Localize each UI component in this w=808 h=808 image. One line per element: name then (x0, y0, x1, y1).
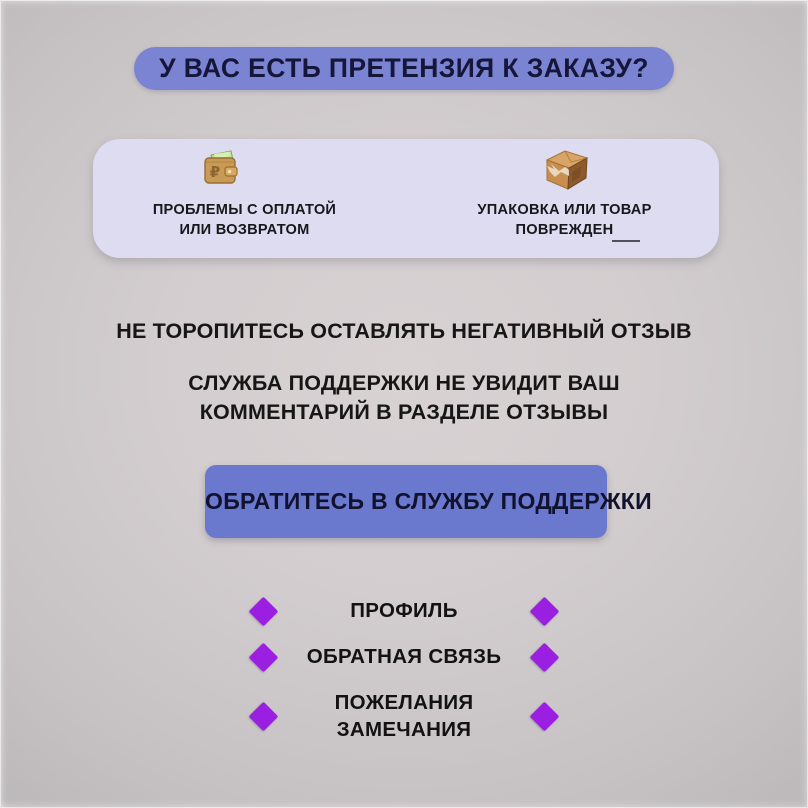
list-item[interactable]: ОБРАТНАЯ СВЯЗЬ (0, 644, 808, 670)
poster-canvas: У ВАС ЕСТЬ ПРЕТЕНЗИЯ К ЗАКАЗУ? ₽ ПРОБЛЕМ… (0, 0, 808, 808)
step-label-profile: ПРОФИЛЬ (304, 598, 504, 624)
step-label-line-1: ПОЖЕЛАНИЯ (335, 691, 474, 714)
label-line-1: УПАКОВКА ИЛИ ТОВАР (477, 202, 651, 218)
contact-support-button[interactable]: ОБРАТИТЕСЬ В СЛУЖБУ ПОДДЕРЖКИ (205, 465, 607, 538)
label-line-2: ИЛИ ВОЗВРАТОМ (179, 222, 309, 238)
diamond-bullet-icon (249, 702, 279, 732)
damaged-package-icon (541, 145, 593, 193)
list-item[interactable]: ПОЖЕЛАНИЯ ЗАМЕЧАНИЯ (0, 690, 808, 742)
diamond-bullet-icon (249, 642, 279, 672)
diamond-bullet-icon (530, 702, 560, 732)
label-line-1: ПРОБЛЕМЫ С ОПЛАТОЙ (153, 202, 336, 218)
svg-text:₽: ₽ (209, 163, 219, 181)
diamond-bullet-icon (249, 596, 279, 626)
claim-reason-payment[interactable]: ₽ ПРОБЛЕМЫ С ОПЛАТОЙ ИЛИ ВОЗВРАТОМ (93, 139, 406, 258)
diamond-bullet-icon (530, 642, 560, 672)
explanation-line-2: КОММЕНТАРИЙ В РАЗДЕЛЕ ОТЗЫВЫ (200, 400, 609, 424)
explanation-message: СЛУЖБА ПОДДЕРЖКИ НЕ УВИДИТ ВАШ КОММЕНТАР… (0, 369, 808, 426)
page-title-pill: У ВАС ЕСТЬ ПРЕТЕНЗИЯ К ЗАКАЗУ? (134, 47, 674, 90)
claim-reason-payment-label: ПРОБЛЕМЫ С ОПЛАТОЙ ИЛИ ВОЗВРАТОМ (153, 201, 336, 240)
wallet-ruble-icon: ₽ (198, 145, 244, 193)
claim-reason-package-label: УПАКОВКА ИЛИ ТОВАР ПОВРЕЖДЕН (477, 201, 651, 240)
claim-reason-package[interactable]: УПАКОВКА ИЛИ ТОВАР ПОВРЕЖДЕН (406, 139, 719, 258)
explanation-line-1: СЛУЖБА ПОДДЕРЖКИ НЕ УВИДИТ ВАШ (188, 371, 620, 395)
diamond-bullet-icon (530, 596, 560, 626)
label-line-2: ПОВРЕЖДЕН (516, 222, 614, 238)
text-artifact-line (612, 240, 640, 242)
step-label-feedback: ОБРАТНАЯ СВЯЗЬ (304, 644, 504, 670)
warning-message: НЕ ТОРОПИТЕСЬ ОСТАВЛЯТЬ НЕГАТИВНЫЙ ОТЗЫВ (0, 319, 808, 344)
page-title: У ВАС ЕСТЬ ПРЕТЕНЗИЯ К ЗАКАЗУ? (159, 55, 649, 82)
step-label-line-2: ЗАМЕЧАНИЯ (337, 718, 472, 741)
step-label-suggestions: ПОЖЕЛАНИЯ ЗАМЕЧАНИЯ (304, 690, 504, 742)
list-item[interactable]: ПРОФИЛЬ (0, 598, 808, 624)
support-path-steps: ПРОФИЛЬ ОБРАТНАЯ СВЯЗЬ ПОЖЕЛАНИЯ ЗАМЕЧАН… (0, 598, 808, 743)
